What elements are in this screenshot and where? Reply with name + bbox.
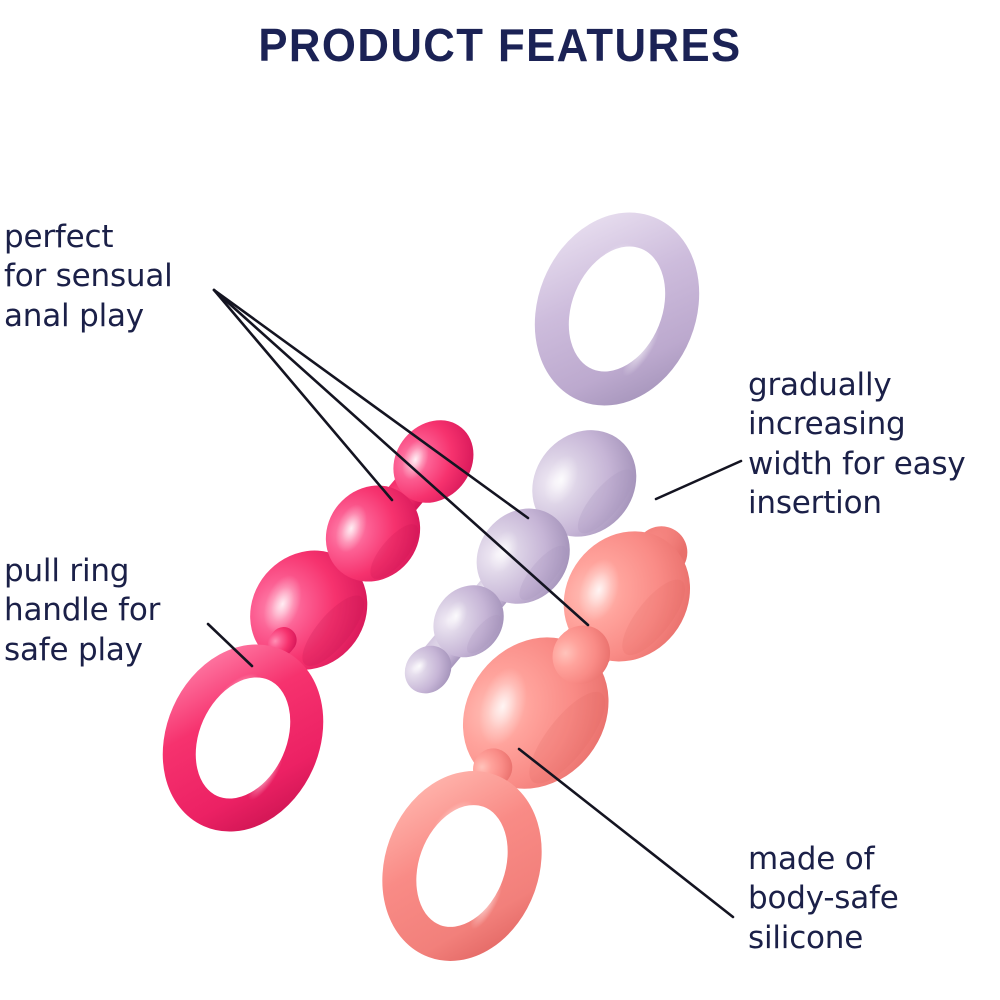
callout-perfect-for-sensual-anal-play: perfect for sensual anal play (4, 218, 173, 336)
leader-line-perfect-to-lavender (214, 290, 528, 518)
callout-gradually-increasing-width-for-easy-insertion: gradually increasing width for easy inse… (748, 366, 966, 523)
leader-line-silicone (519, 749, 733, 917)
leader-line-gradually (656, 461, 741, 499)
lavender-toy-ring (529, 210, 705, 409)
magenta-toy-ring (156, 641, 331, 836)
callout-made-of-body-safe-silicone: made of body-safe silicone (748, 840, 899, 958)
coral-toy-ring (378, 770, 545, 961)
callout-pull-ring-handle-for-safe-play: pull ring handle for safe play (4, 552, 160, 670)
leader-line-perfect-to-magenta (214, 290, 392, 500)
product-features-infographic: PRODUCT FEATURES (0, 0, 1000, 1000)
